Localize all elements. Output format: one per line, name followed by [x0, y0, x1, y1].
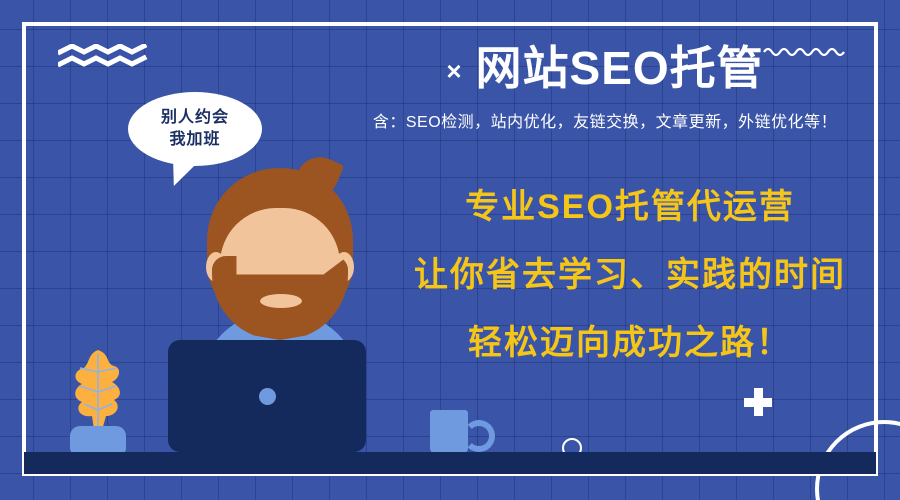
bubble-line-1: 别人约会 — [161, 107, 229, 129]
mouth-shape — [260, 294, 302, 308]
title-row: × 网站SEO托管 — [340, 44, 870, 94]
bubble-line-2: 我加班 — [169, 129, 220, 151]
coffee-mug-icon — [430, 410, 468, 454]
subtitle-text: 含：SEO检测，站内优化，友链交换，文章更新，外链优化等！ — [340, 108, 870, 132]
wave-lines-icon — [58, 44, 150, 70]
headline-block: × 网站SEO托管 含：SEO检测，站内优化，友链交换，文章更新，外链优化等！ — [340, 44, 870, 132]
seo-hosting-banner: × 网站SEO托管 含：SEO检测，站内优化，友链交换，文章更新，外链优化等！ … — [0, 0, 900, 500]
potted-plant-icon — [52, 348, 148, 454]
leaf-shape — [64, 348, 132, 432]
speech-bubble: 别人约会 我加班 — [128, 92, 262, 166]
cross-mark-icon: × — [446, 58, 461, 84]
laptop-logo-dot — [259, 388, 276, 405]
slogan-line-3: 轻松迈向成功之路！ — [380, 326, 880, 360]
slogan-line-2: 让你省去学习、实践的时间 — [380, 258, 880, 292]
laptop-icon — [168, 340, 366, 452]
slogan-line-1: 专业SEO托管代运营 — [380, 190, 880, 224]
plus-icon — [744, 388, 772, 416]
slogan-block: 专业SEO托管代运营 让你省去学习、实践的时间 轻松迈向成功之路！ — [380, 190, 880, 360]
page-title: 网站SEO托管 — [476, 44, 764, 94]
desk-surface — [24, 452, 876, 474]
